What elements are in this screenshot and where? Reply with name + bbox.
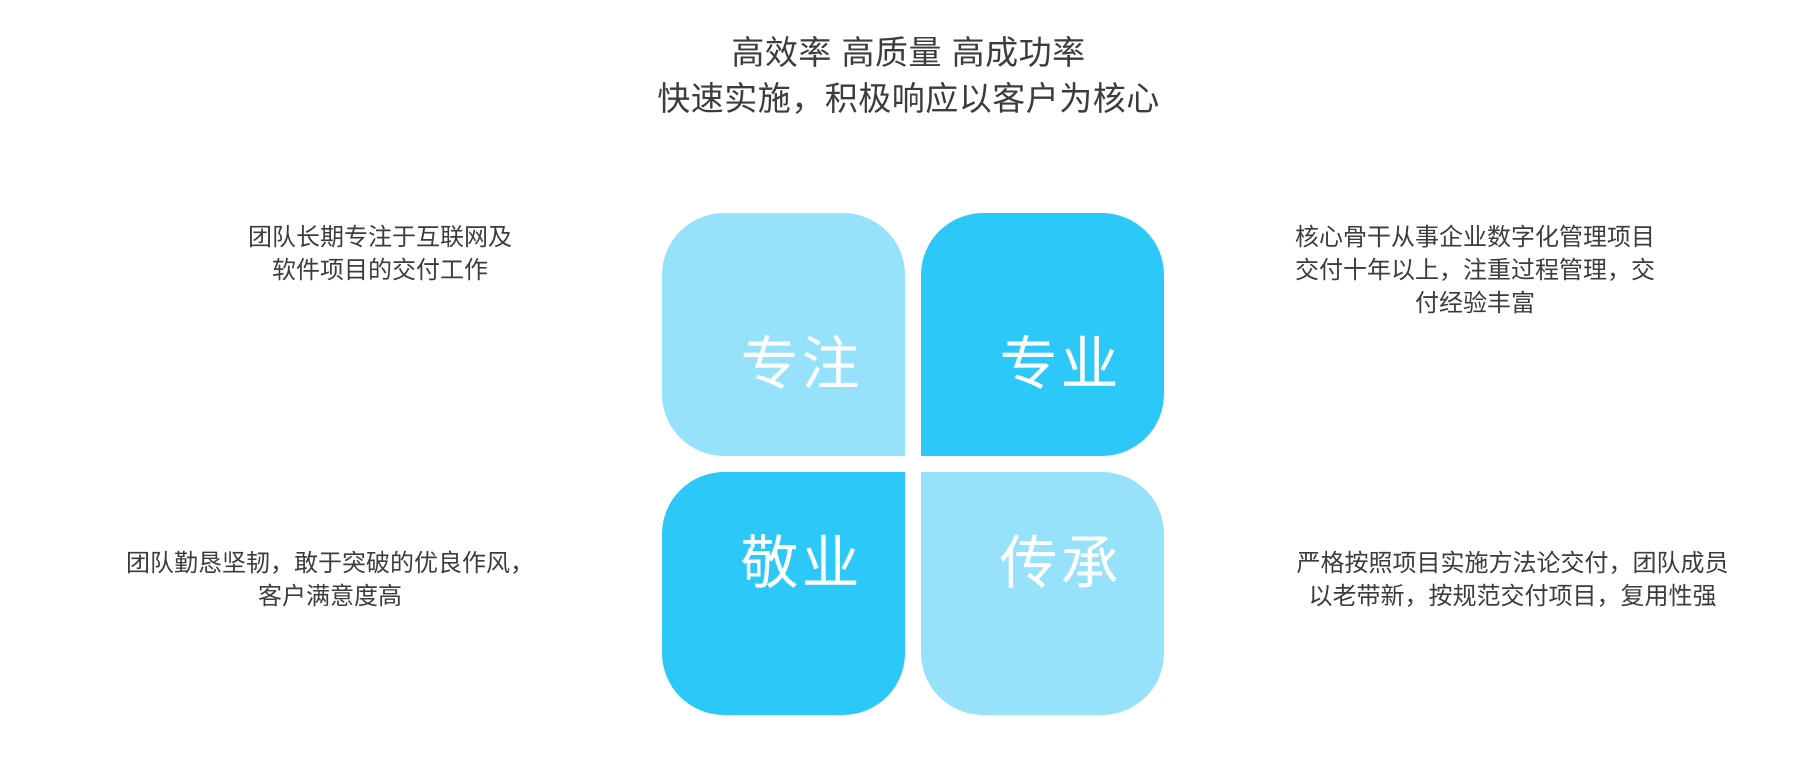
petal-heritage-label: 传承 — [999, 535, 1121, 593]
petal-professional[interactable]: 专业 — [921, 213, 1164, 456]
page-title: 高效率 高质量 高成功率 快速实施，积极响应以客户为核心 — [0, 30, 1817, 122]
caption-heritage: 严格按照项目实施方法论交付，团队成员 以老带新，按规范交付项目，复用性强 — [1240, 547, 1785, 613]
page-title-line-1: 高效率 高质量 高成功率 — [0, 30, 1817, 76]
caption-focus: 团队长期专注于互联网及 软件项目的交付工作 — [160, 221, 600, 287]
petal-dedication-label: 敬业 — [740, 535, 862, 593]
petal-dedication[interactable]: 敬业 — [662, 472, 905, 715]
caption-dedication: 团队勤恳坚韧，敢于突破的优良作风， 客户满意度高 — [60, 547, 600, 613]
petal-professional-label: 专业 — [999, 336, 1121, 394]
page-title-line-2: 快速实施，积极响应以客户为核心 — [0, 76, 1817, 122]
petal-focus[interactable]: 专注 — [662, 213, 905, 456]
four-petal-diagram: 专注 专业 敬业 传承 — [662, 213, 1164, 715]
petal-heritage[interactable]: 传承 — [921, 472, 1164, 715]
caption-professional: 核心骨干从事企业数字化管理项目 交付十年以上，注重过程管理，交 付经验丰富 — [1240, 221, 1710, 320]
infographic-canvas: 高效率 高质量 高成功率 快速实施，积极响应以客户为核心 团队长期专注于互联网及… — [0, 0, 1817, 769]
petal-focus-label: 专注 — [740, 336, 862, 394]
